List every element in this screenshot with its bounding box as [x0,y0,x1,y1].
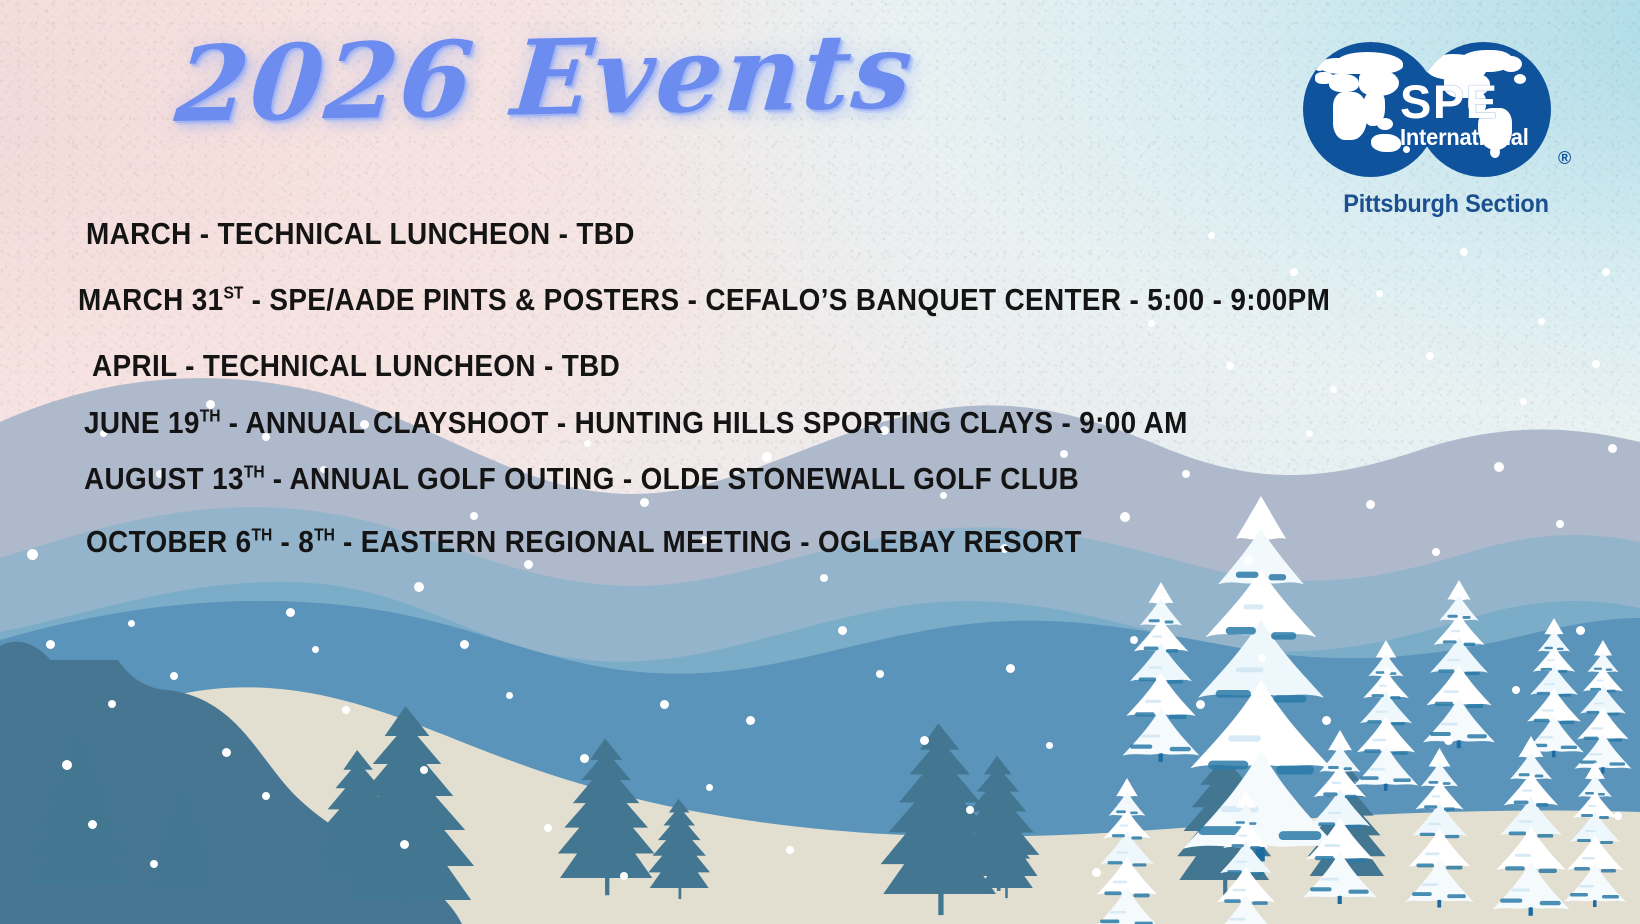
spe-globes: SPE International ® [1296,42,1596,177]
event-item-june-19-clayshoot: JUNE 19TH - ANNUAL CLAYSHOOT - HUNTING H… [84,407,1188,438]
event-item-august-13-golf: AUGUST 13TH - ANNUAL GOLF OUTING - OLDE … [84,463,1079,494]
spe-qualifier: International [1400,126,1543,149]
ordinal-suffix: TH [252,525,273,545]
spe-wordmark: SPE International [1400,78,1550,149]
registered-trademark-icon: ® [1558,148,1571,169]
event-item-october-6-8-eastern: OCTOBER 6TH - 8TH - EASTERN REGIONAL MEE… [86,526,1082,557]
ordinal-suffix: ST [224,283,244,303]
event-item-march-luncheon: MARCH - TECHNICAL LUNCHEON - TBD [86,218,635,249]
ordinal-suffix: TH [200,406,221,426]
spe-logo: SPE International ® Pittsburgh Section [1296,42,1596,227]
event-item-april-luncheon: APRIL - TECHNICAL LUNCHEON - TBD [92,350,620,381]
snowy-pine-cluster [1060,490,1640,924]
event-item-march-31-pints: MARCH 31ST - SPE/AADE PINTS & POSTERS - … [78,284,1330,315]
spe-acronym: SPE [1400,78,1550,125]
ordinal-suffix: TH [244,462,265,482]
section-label: Pittsburgh Section [1305,190,1587,219]
page-title: 2026 Events [0,6,1096,150]
winter-events-poster: 2026 Events MARCH - TECHNICAL LUNCHEON -… [0,0,1640,924]
ordinal-suffix: TH [314,525,335,545]
